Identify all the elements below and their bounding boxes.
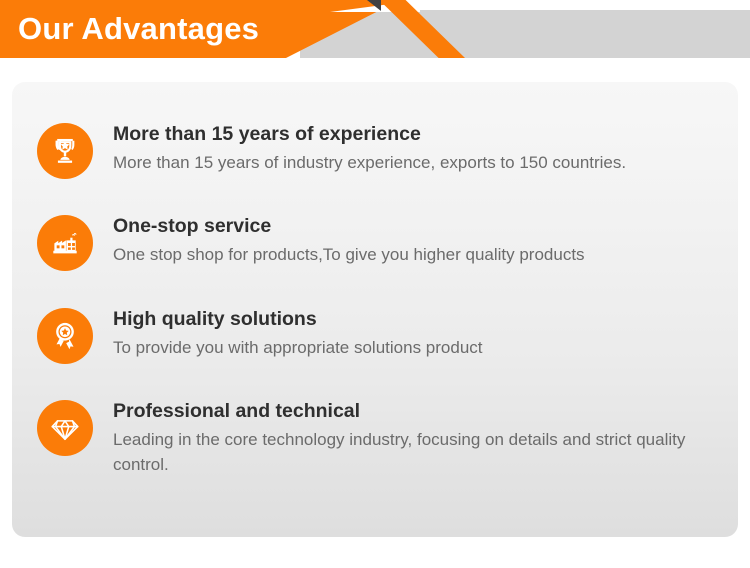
list-item: More than 15 years of experience More th… [37,121,724,179]
list-item: Professional and technical Leading in th… [37,398,724,477]
banner-grey-band [300,10,750,58]
feature-title: More than 15 years of experience [113,122,626,146]
list-item-text: High quality solutions To provide you wi… [113,306,483,360]
feature-title: Professional and technical [113,399,724,423]
feature-title: One-stop service [113,214,585,238]
trophy-icon [37,123,93,179]
list-item-text: More than 15 years of experience More th… [113,121,626,175]
feature-description: Leading in the core technology industry,… [113,427,724,477]
factory-icon [37,215,93,271]
list-item-text: Professional and technical Leading in th… [113,398,724,477]
list-item: One-stop service One stop shop for produ… [37,213,724,271]
award-ribbon-icon [37,308,93,364]
feature-description: To provide you with appropriate solution… [113,335,483,360]
list-item: High quality solutions To provide you wi… [37,306,724,364]
feature-description: More than 15 years of industry experienc… [113,150,626,175]
feature-description: One stop shop for products,To give you h… [113,242,585,267]
advantages-card: More than 15 years of experience More th… [12,82,738,537]
diamond-icon [37,400,93,456]
page-header-banner: Our Advantages [0,0,750,60]
list-item-text: One-stop service One stop shop for produ… [113,213,585,267]
feature-title: High quality solutions [113,307,483,331]
page-title: Our Advantages [18,9,259,49]
